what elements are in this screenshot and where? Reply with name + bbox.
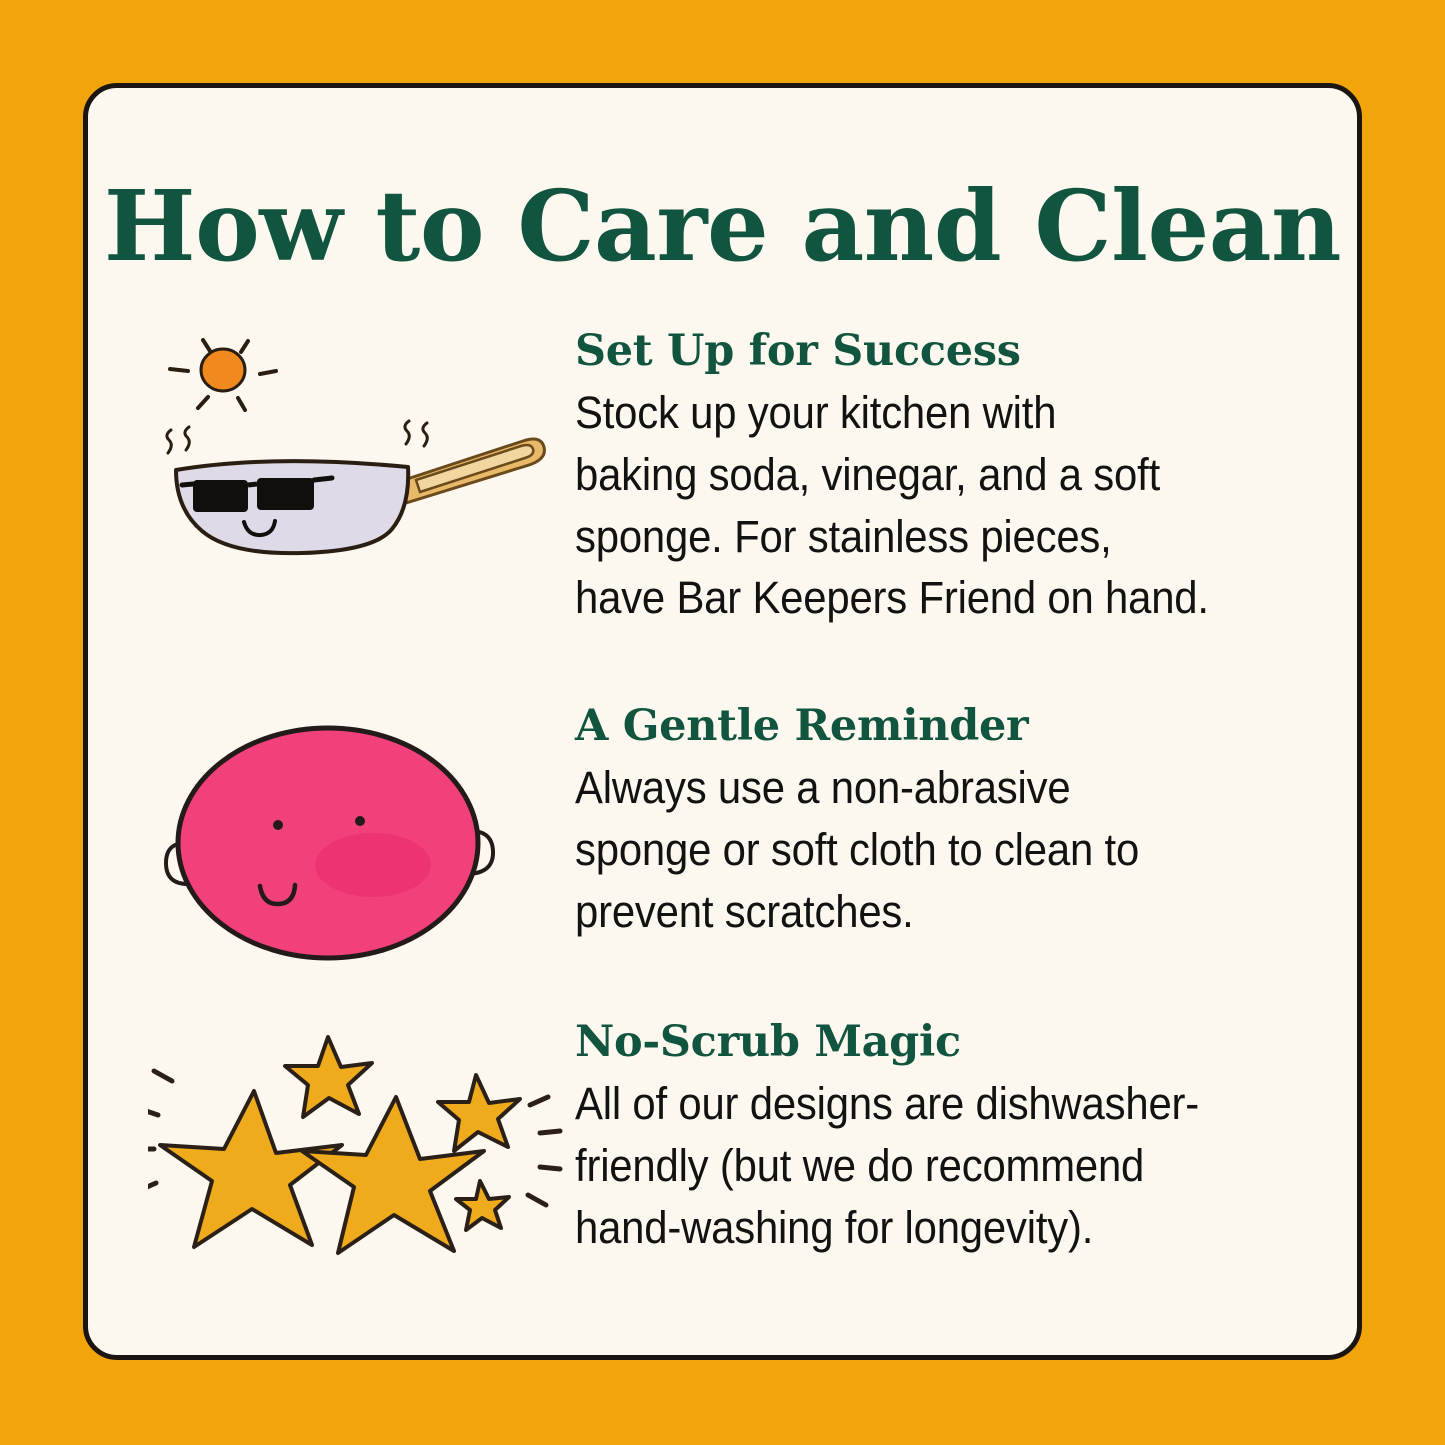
pink-oval-pot-illustration — [148, 703, 568, 973]
sun-icon — [170, 340, 276, 410]
sparkle-stars-icon — [148, 1019, 568, 1289]
body-line: baking soda, vinegar, and a soft — [575, 444, 1263, 506]
pot-eye-right — [355, 816, 365, 826]
body-line: friendly (but we do recommend — [575, 1135, 1263, 1197]
star-small-top — [285, 1037, 372, 1117]
body-line: Stock up your kitchen with — [575, 382, 1263, 444]
pink-pot-face-icon — [148, 703, 568, 973]
section-body: Always use a non-abrasive sponge or soft… — [575, 757, 1263, 942]
section-copy: Set Up for Success Stock up your kitchen… — [575, 328, 1315, 629]
section-body: All of our designs are dishwasher- frien… — [575, 1073, 1263, 1258]
frying-pan-sun-illustration — [148, 328, 568, 598]
section-heading: Set Up for Success — [575, 328, 1315, 375]
pot-blush — [315, 833, 431, 897]
steam-squiggle-left — [167, 427, 189, 453]
pan-handle-icon — [401, 439, 544, 503]
star-large-left — [160, 1091, 342, 1247]
hand-drawn-stars-illustration — [148, 1019, 568, 1289]
steam-squiggle-right — [405, 421, 427, 446]
body-line: sponge. For stainless pieces, — [575, 506, 1263, 568]
body-line: Always use a non-abrasive — [575, 757, 1263, 819]
body-line: sponge or soft cloth to clean to — [575, 819, 1263, 881]
pot-body — [178, 728, 478, 958]
section-copy: A Gentle Reminder Always use a non-abras… — [575, 703, 1315, 942]
section-copy: No-Scrub Magic All of our designs are di… — [575, 1019, 1315, 1258]
frying-pan-body — [176, 461, 408, 553]
section-body: Stock up your kitchen with baking soda, … — [575, 382, 1263, 629]
poster-root: How to Care and Clean — [0, 0, 1445, 1445]
star-tiny — [456, 1181, 509, 1230]
section-heading: No-Scrub Magic — [575, 1019, 1315, 1066]
star-small-right — [438, 1075, 520, 1151]
pot-eye-left — [273, 820, 283, 830]
frying-pan-with-sunglasses-icon — [148, 328, 568, 598]
info-card: How to Care and Clean — [83, 83, 1362, 1360]
body-line: All of our designs are dishwasher- — [575, 1073, 1263, 1135]
section-heading: A Gentle Reminder — [575, 703, 1315, 750]
body-line: have Bar Keepers Friend on hand. — [575, 567, 1263, 629]
body-line: hand-washing for longevity). — [575, 1197, 1263, 1259]
page-title: How to Care and Clean — [88, 176, 1357, 278]
body-line: prevent scratches. — [575, 881, 1263, 943]
